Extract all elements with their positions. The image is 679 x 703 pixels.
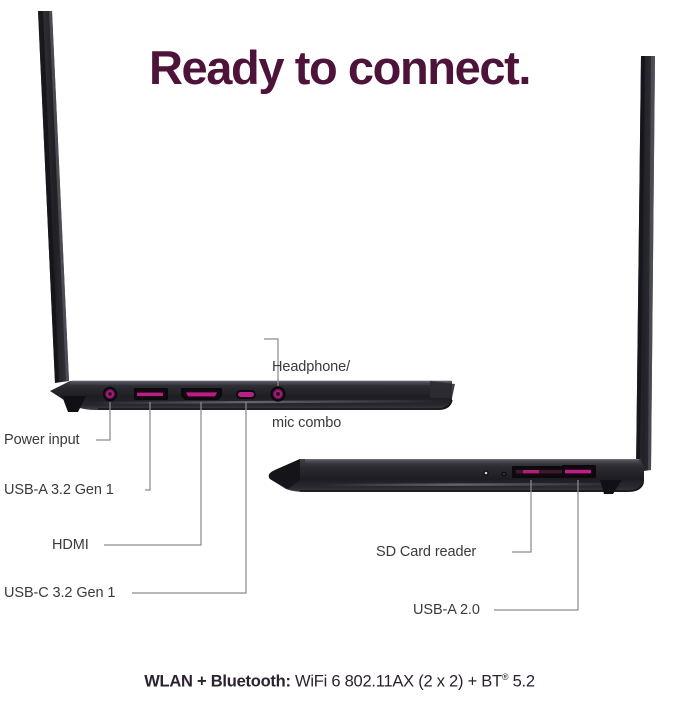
callout-label-power-input: Power input bbox=[4, 431, 79, 450]
callout-label-hdmi: HDMI bbox=[52, 536, 89, 555]
callout-label-sd-card-reader: SD Card reader bbox=[376, 543, 476, 562]
wlan-bluetooth-detail-b: 5.2 bbox=[508, 673, 535, 691]
base-top-bevel bbox=[70, 382, 452, 386]
wlan-bluetooth-spec: WLAN + Bluetooth: WiFi 6 802.11AX (2 x 2… bbox=[0, 672, 679, 692]
hdmi-port bbox=[181, 388, 222, 400]
callout-label-usb-a-32-gen1: USB-A 3.2 Gen 1 bbox=[4, 481, 114, 500]
status-led bbox=[502, 472, 507, 477]
base-top-bevel-2 bbox=[305, 460, 639, 464]
power-input-port bbox=[103, 387, 117, 401]
callout-label-usb-c-32-gen1: USB-C 3.2 Gen 1 bbox=[4, 584, 115, 603]
base-sheen-2 bbox=[320, 484, 630, 485]
wlan-bluetooth-detail-a: WiFi 6 802.11AX (2 x 2) + BT bbox=[291, 673, 502, 691]
callout-label-headphone-mic-line1: Headphone/ bbox=[272, 358, 350, 377]
callout-label-usb-a-20: USB-A 2.0 bbox=[413, 601, 480, 620]
usb-c-port bbox=[236, 390, 256, 399]
usb-a-20-port bbox=[562, 465, 596, 478]
usb-a-port bbox=[134, 388, 168, 400]
laptop-left-side-view bbox=[38, 11, 455, 412]
power-led bbox=[483, 470, 488, 475]
callout-label-headphone-mic-line2: mic combo bbox=[272, 414, 350, 433]
sd-card-slot bbox=[512, 466, 566, 478]
wlan-bluetooth-label: WLAN + Bluetooth: bbox=[144, 673, 291, 691]
callout-label-headphone-mic: Headphone/ mic combo bbox=[272, 321, 350, 469]
connectivity-infographic: Ready to connect. bbox=[0, 0, 679, 703]
